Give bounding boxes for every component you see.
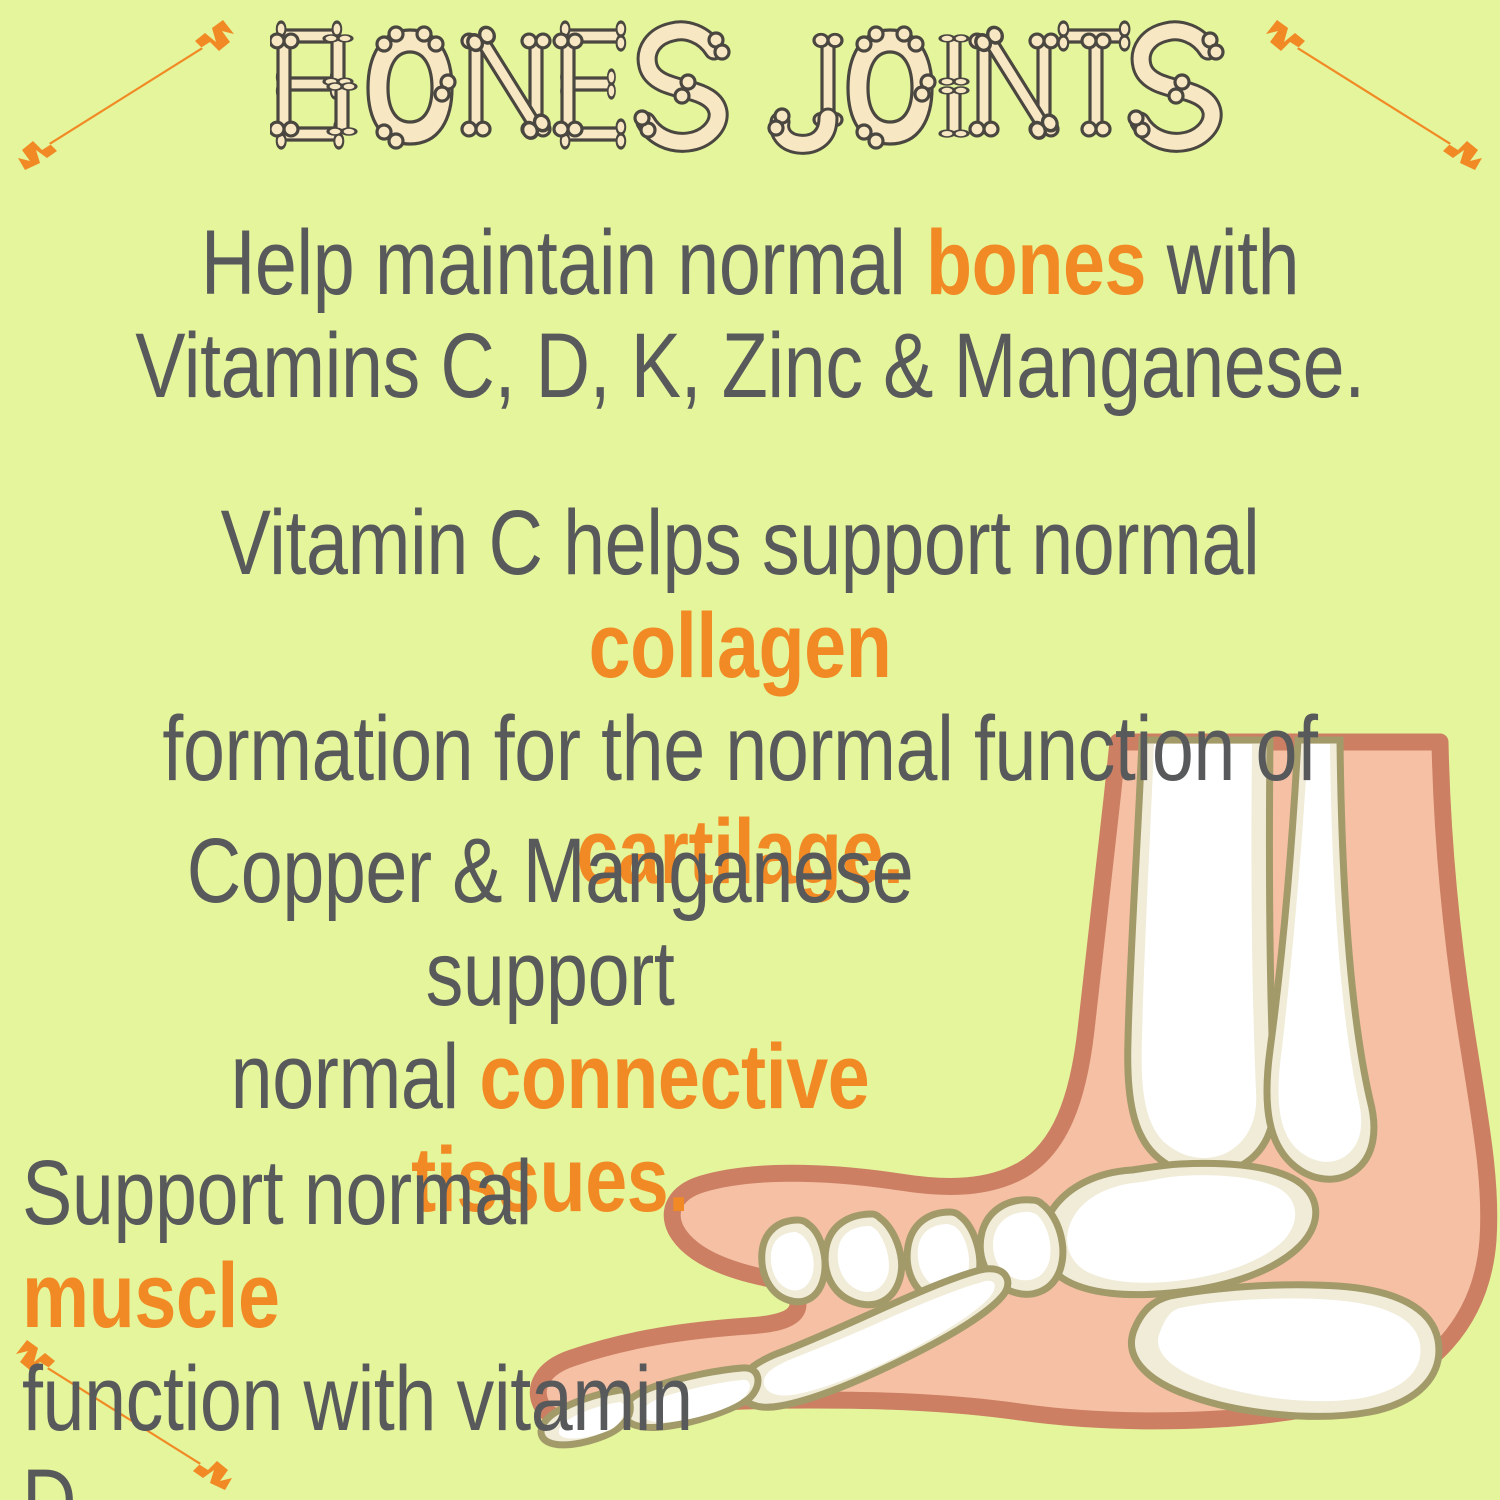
page-title <box>0 12 1500 162</box>
benefit-line: Vitamins C, D, K, Zinc & Manganese. <box>135 315 1365 418</box>
text-run: normal <box>231 1026 480 1128</box>
text-run: Help maintain normal <box>201 212 926 314</box>
highlight-run: collagen <box>589 595 892 697</box>
benefit-line: function with vitamin D. <box>22 1348 694 1500</box>
highlight-run: bones <box>926 212 1146 314</box>
benefit-line: Help maintain normal bones with <box>135 212 1365 315</box>
text-run: formation for the normal function of <box>162 698 1317 800</box>
benefit-line: Copper & Manganese support <box>99 820 1001 1026</box>
benefit-line: Vitamin C helps support normal collagen <box>133 492 1347 698</box>
benefit-text-bones: Help maintain normal bones with Vitamins… <box>135 212 1365 418</box>
benefit-text-muscle: Support normal muscle function with vita… <box>22 1142 694 1500</box>
text-run: with <box>1146 212 1299 314</box>
benefit-line: Support normal muscle <box>22 1142 694 1348</box>
poster-canvas: Help maintain normal bones with Vitamins… <box>0 0 1500 1500</box>
text-run: Copper & Manganese support <box>187 820 914 1025</box>
text-run: Vitamin C helps support normal <box>221 492 1260 594</box>
title-bone-lettering <box>270 12 1230 162</box>
highlight-run: muscle <box>22 1245 280 1347</box>
text-run: Support normal <box>22 1142 532 1244</box>
text-run: function with vitamin D. <box>22 1348 693 1500</box>
text-run: Vitamins C, D, K, Zinc & Manganese. <box>135 315 1365 417</box>
